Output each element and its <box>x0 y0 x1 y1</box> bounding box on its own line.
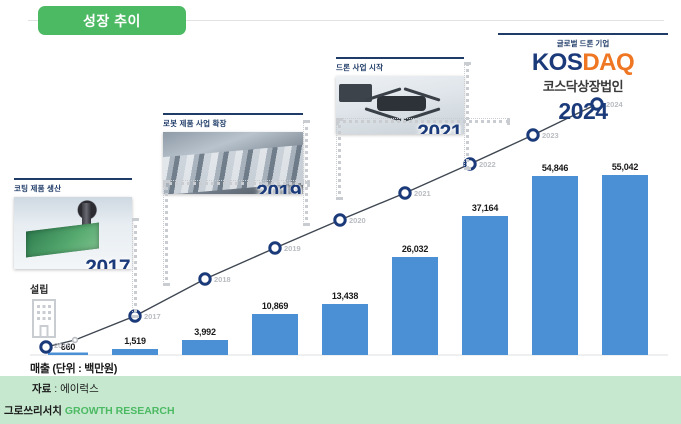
source-label: 자료 <box>32 383 51 395</box>
source-line: 자료 : 에이럭스 <box>32 381 99 396</box>
drone-body-shape <box>377 96 426 111</box>
bar-2021 <box>392 257 438 355</box>
bar-value-2017: 1,519 <box>112 336 158 346</box>
bar-value-2024: 55,042 <box>599 162 651 172</box>
founding-label: 설립 <box>30 281 48 296</box>
bar-value-2019: 10,869 <box>249 301 301 311</box>
timeline-label-2017: 2017 <box>144 312 161 321</box>
milestone-2021-caption: 드론 사업 시작 <box>336 62 464 73</box>
bar-2017 <box>112 349 158 355</box>
source-sep: : <box>51 383 60 395</box>
marker-2021 <box>400 188 410 198</box>
timeline-label-2022: 2022 <box>479 160 496 169</box>
kosdaq-logo-part2: DAQ <box>582 49 634 76</box>
connector-2022 <box>464 62 469 170</box>
kosdaq-subtitle: 코스닥상장법인 <box>498 76 668 95</box>
connector-2017 <box>132 218 137 318</box>
connector-2019 <box>163 180 168 286</box>
infographic-page: 성장 추이 <box>0 0 681 424</box>
milestone-2017-rule <box>14 178 132 180</box>
timeline-label-2020: 2020 <box>349 216 366 225</box>
marker-2019 <box>270 243 280 253</box>
milestone-2021-photo: 2021 <box>336 76 464 134</box>
milestone-2017[interactable]: 코팅 제품 생산 2017 <box>14 178 132 269</box>
bar-2020 <box>322 304 368 355</box>
bar-value-2018: 3,992 <box>182 327 228 337</box>
bar-value-2023: 54,846 <box>529 163 581 173</box>
timeline-label-2018: 2018 <box>214 275 231 284</box>
bar-series <box>48 175 648 355</box>
connector-2021-h <box>336 118 510 123</box>
brand-korean: 그로쓰리서치 <box>4 405 62 417</box>
timeline-label-2023: 2023 <box>542 131 559 140</box>
bar-value-2021: 26,032 <box>389 244 441 254</box>
bar-2024 <box>602 175 648 355</box>
bar-2022 <box>462 216 508 355</box>
circuit-board-shape <box>26 223 99 258</box>
milestone-2019-caption: 로봇 제품 사업 확장 <box>163 118 303 129</box>
kosdaq-rule <box>498 33 668 35</box>
brand-line: 그로쓰리서치 GROWTH RESEARCH <box>4 403 175 418</box>
marker-2018 <box>200 274 210 284</box>
kosdaq-logo-part1: KOS <box>532 49 583 76</box>
milestone-2017-photo: 2017 <box>14 197 132 269</box>
bar-2016 <box>48 353 88 356</box>
bar-value-2022: 37,164 <box>459 203 511 213</box>
timeline-label-2021: 2021 <box>414 189 431 198</box>
milestone-2017-caption: 코팅 제품 생산 <box>14 183 132 194</box>
connector-2021 <box>336 118 341 200</box>
brand-english: GROWTH RESEARCH <box>65 405 175 417</box>
marker-2023 <box>528 130 538 140</box>
milestone-2019-rule <box>163 113 303 115</box>
connector-2019-h <box>163 180 310 185</box>
building-icon <box>29 296 59 338</box>
milestone-2017-year: 2017 <box>85 256 130 269</box>
milestone-2021-rule <box>336 57 464 59</box>
bar-2019 <box>252 314 298 355</box>
bar-2018 <box>182 340 228 355</box>
connector-2019b <box>303 120 308 226</box>
bar-2023 <box>532 176 578 355</box>
timeline-label-2016: 2016 <box>54 341 71 350</box>
kosdaq-block: 글로벌 드론 기업 KOSDAQ 코스닥상장법인 2024 <box>498 33 668 125</box>
axis-label: 매출 (단위 : 백만원) <box>30 360 117 376</box>
kosdaq-year: 2024 <box>498 98 668 125</box>
bar-value-2020: 13,438 <box>319 291 371 301</box>
timeline-label-2019: 2019 <box>284 244 301 253</box>
kosdaq-caption: 글로벌 드론 기업 <box>498 38 668 49</box>
source-value: 에이럭스 <box>60 383 99 395</box>
marker-2020 <box>335 215 345 225</box>
kosdaq-logo: KOSDAQ <box>498 51 668 75</box>
